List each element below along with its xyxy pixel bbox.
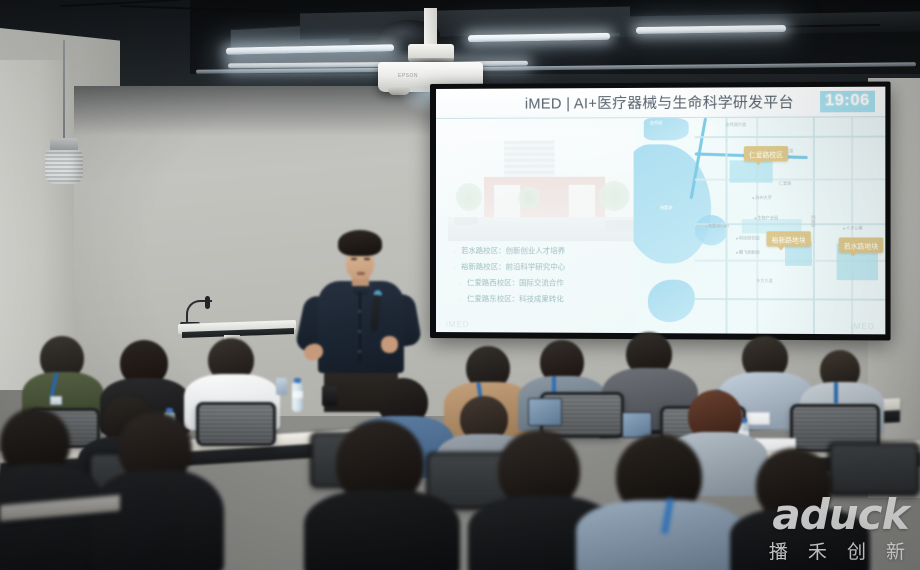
presenter-eye [364, 258, 370, 260]
list-item: · 裕新路校区：前沿科学研究中心 [454, 263, 656, 272]
name-badge [50, 396, 62, 405]
photo-tree [456, 183, 482, 211]
smartphone [276, 378, 287, 395]
slide-surface: iMED | AI+医疗器械与生命科学研发平台 19:06 [436, 87, 885, 335]
presenter-right-hand [381, 336, 398, 353]
bullet-text: 若水路校区：创新创业人才培养 [461, 247, 565, 255]
laptop[interactable] [622, 412, 652, 438]
map-water-body [634, 144, 712, 263]
shirt-button [358, 310, 361, 313]
photo-car [605, 220, 635, 231]
slide-bullet-list: · 若水路校区：创新创业人才培养 · 裕新路校区：前沿科学研究中心 · 仁爱路西… [454, 247, 656, 312]
campus-location-map: 金鸡湖大道 现代大道 仁爱路 东方大道 星湖街 苏州大学 生物产业园 独墅湖CB… [634, 117, 886, 334]
map-road [695, 298, 886, 300]
bullet-text: 裕新路校区：前沿科学研究中心 [461, 263, 565, 271]
lanyard [834, 382, 838, 404]
photo-building [504, 141, 554, 177]
microphone-head-icon [205, 296, 210, 309]
bullet-marker: · [460, 281, 462, 287]
map-water-body [648, 280, 695, 323]
water-bottle [292, 382, 303, 412]
shirt-button [358, 350, 361, 353]
bullet-text: 仁爱路东校区：科技成果转化 [467, 295, 564, 303]
slide-body: · 若水路校区：创新创业人才培养 · 裕新路校区：前沿科学研究中心 · 仁爱路西… [436, 117, 885, 334]
photo-tree [599, 181, 629, 211]
bullet-marker: · [454, 249, 456, 255]
map-pin-label[interactable]: 裕新路地块 [767, 231, 811, 246]
list-item: · 仁爱路西校区：国际交流合作 [454, 279, 656, 288]
coffee-cup [322, 386, 337, 406]
bullet-marker: · [454, 265, 456, 271]
speaker-suspension-wire [63, 40, 65, 140]
map-pin-label[interactable]: 仁爱路校区 [744, 146, 788, 161]
presenter-eye [351, 258, 357, 260]
map-pin-label[interactable]: 若水路地块 [839, 237, 884, 252]
list-item: · 若水路校区：创新创业人才培养 [454, 247, 656, 255]
photo-car [454, 217, 478, 225]
map-parcel [730, 160, 773, 182]
torso [730, 508, 870, 570]
slide-footer-mark: iMED [851, 322, 875, 331]
map-water-body [695, 215, 728, 245]
list-item: · 仁爱路东校区：科技成果转化 [454, 295, 656, 304]
presenter-mouth [357, 272, 365, 275]
torso [304, 490, 460, 570]
shirt-button [358, 330, 361, 333]
map-road [695, 136, 886, 138]
office-chair[interactable] [828, 442, 920, 496]
photo-tree [518, 187, 540, 209]
ceiling-speaker-icon [45, 150, 83, 184]
projection-screen: iMED | AI+医疗器械与生命科学研发平台 19:06 [430, 82, 891, 341]
photo-gate-structure [484, 177, 605, 217]
projector-brand-label: EPSON [398, 73, 418, 79]
torso [576, 500, 744, 570]
clock-overlay: 19:06 [820, 91, 875, 113]
presenter-hair [338, 230, 382, 256]
bullet-text: 仁爱路西校区：国际交流合作 [467, 279, 564, 287]
slide-footer-logo: iMED [446, 320, 470, 329]
laptop[interactable] [528, 398, 562, 426]
slide-title-bar: iMED | AI+医疗器械与生命科学研发平台 [436, 87, 885, 119]
presentation-photo-scene: EPSON iMED | AI+医疗器械与生命科学研发平台 19:06 [0, 0, 920, 570]
slide-title-text: iMED | AI+医疗器械与生命科学研发平台 [525, 91, 794, 113]
bullet-marker: · [460, 297, 462, 303]
torso [92, 470, 224, 570]
campus-gate-photo [448, 128, 640, 241]
office-chair[interactable] [196, 402, 276, 446]
